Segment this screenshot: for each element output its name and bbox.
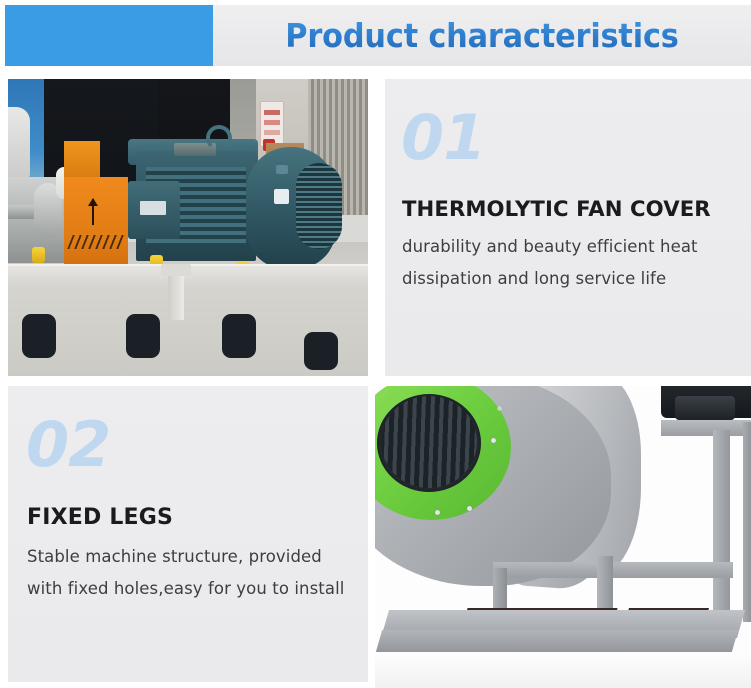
frame-cross-rail bbox=[493, 562, 733, 578]
direction-arrow-icon bbox=[92, 199, 94, 225]
ring-screw bbox=[497, 406, 502, 411]
base-cutout bbox=[22, 314, 56, 358]
impeller-blades bbox=[381, 396, 477, 488]
yellow-bolt-cap bbox=[32, 247, 45, 263]
base-cutout bbox=[126, 314, 160, 358]
page-header: Product characteristics bbox=[0, 0, 751, 70]
feature-body-01: durability and beauty efficient heat dis… bbox=[402, 231, 742, 295]
page-title: Product characteristics bbox=[235, 5, 730, 66]
chevron-stripes-icon bbox=[67, 235, 127, 249]
header-accent-block bbox=[5, 5, 213, 66]
blower-motor-detail bbox=[675, 396, 735, 420]
feature-number-01: 01 bbox=[401, 107, 485, 169]
motor-assembly-illustration bbox=[8, 79, 368, 376]
fixed-leg bbox=[743, 422, 751, 622]
frame-top-rail bbox=[661, 420, 751, 436]
mounting-bracket bbox=[168, 272, 184, 320]
feature-number-02: 02 bbox=[26, 414, 110, 476]
motor-assembly-photo bbox=[8, 79, 368, 376]
feature-body-02: Stable machine structure, provided with … bbox=[27, 541, 357, 605]
lifting-eyebolt bbox=[206, 125, 232, 151]
fan-cover-sticker bbox=[274, 189, 289, 204]
floor-shadow bbox=[375, 654, 751, 688]
guard-top bbox=[64, 141, 100, 179]
blower-illustration bbox=[375, 386, 751, 688]
fan-cover-logo bbox=[276, 165, 288, 174]
blower-legs-photo bbox=[375, 386, 751, 688]
ring-screw bbox=[491, 438, 496, 443]
fixed-leg bbox=[713, 430, 730, 620]
base-frame-front-rail bbox=[376, 630, 738, 652]
base-cutout bbox=[222, 314, 256, 358]
fan-cover-vent-grill bbox=[296, 163, 342, 249]
ring-screw bbox=[435, 510, 440, 515]
product-characteristics-page: Product characteristics bbox=[0, 0, 751, 688]
junction-box-label bbox=[140, 201, 166, 215]
ring-screw bbox=[467, 506, 472, 511]
machine-tank bbox=[8, 107, 30, 187]
feature-title-01: THERMOLYTIC FAN COVER bbox=[402, 196, 711, 221]
base-cutout bbox=[304, 332, 338, 370]
feature-title-02: FIXED LEGS bbox=[27, 505, 173, 530]
feature-card-02: 02 FIXED LEGS Stable machine structure, … bbox=[8, 386, 368, 682]
feature-card-01: 01 THERMOLYTIC FAN COVER durability and … bbox=[385, 79, 751, 376]
